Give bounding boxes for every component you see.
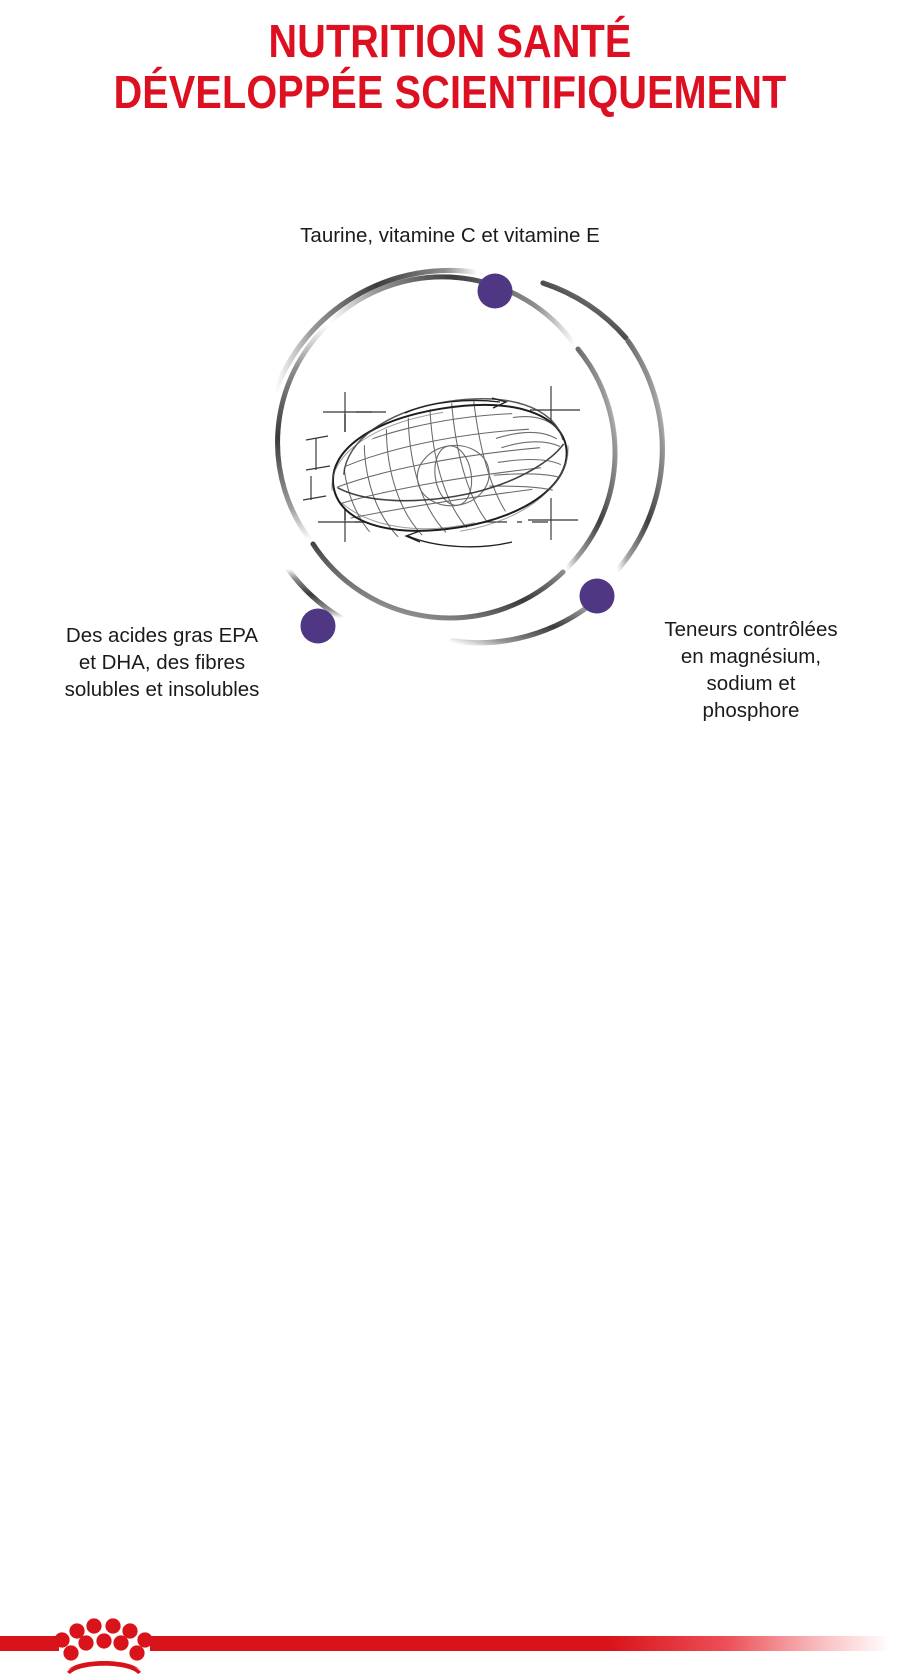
page-root: NUTRITION SANTÉ DÉVELOPPÉE SCIENTIFIQUEM…	[0, 0, 900, 900]
page-title: NUTRITION SANTÉ DÉVELOPPÉE SCIENTIFIQUEM…	[0, 18, 900, 116]
callout-label-top: Taurine, vitamine C et vitamine E	[0, 222, 900, 249]
footer	[0, 800, 900, 900]
node-bottom-right[interactable]	[580, 579, 615, 614]
royal-canin-crown-logo	[52, 1612, 156, 1674]
kibble-technical-sketch	[303, 384, 580, 550]
callout-label-bottom-right: Teneurs contrôlées en magnésium, sodium …	[610, 616, 892, 724]
callout-label-bottom-left: Des acides gras EPA et DHA, des fibres s…	[14, 622, 310, 703]
page-title-line-2: DÉVELOPPÉE SCIENTIFIQUEMENT	[63, 69, 837, 116]
footer-rule-left	[0, 1636, 59, 1651]
footer-rule-right	[150, 1636, 890, 1651]
page-title-line-1: NUTRITION SANTÉ	[63, 18, 837, 65]
node-top[interactable]	[478, 274, 513, 309]
